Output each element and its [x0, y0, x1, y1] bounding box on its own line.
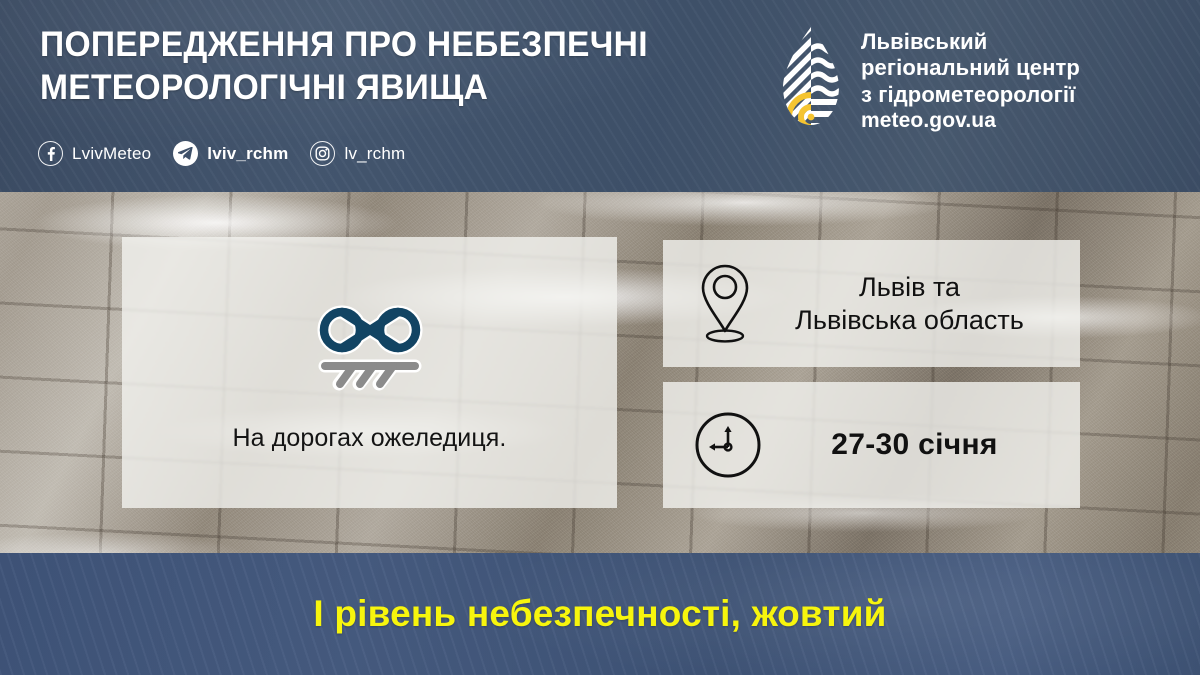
location-text: Львів та Львівська область: [753, 271, 1080, 337]
water-droplet-logo-icon: [775, 25, 847, 131]
social-link-facebook[interactable]: LvivMeteo: [38, 141, 151, 166]
telegram-handle: lviv_rchm: [207, 144, 288, 164]
date-range: 27-30 січня: [763, 427, 1066, 464]
facebook-handle: LvivMeteo: [72, 144, 151, 164]
clock-icon: [693, 410, 763, 480]
page-title: ПОПЕРЕДЖЕННЯ ПРО НЕБЕЗПЕЧНІ МЕТЕОРОЛОГІЧ…: [40, 24, 731, 109]
hazard-card: На дорогах ожеледиця.: [122, 237, 617, 508]
weather-warning-poster: ПОПЕРЕДЖЕННЯ ПРО НЕБЕЗПЕЧНІ МЕТЕОРОЛОГІЧ…: [0, 0, 1200, 675]
social-link-instagram[interactable]: lv_rchm: [310, 141, 405, 166]
danger-level-text: І рівень небезпечності, жовтий: [313, 593, 886, 635]
logo-text-line-3: з гідрометеорології: [861, 82, 1075, 107]
logo-website-url[interactable]: meteo.gov.ua: [861, 109, 996, 132]
location-card: Львів та Львівська область: [663, 240, 1080, 367]
social-links: LvivMeteo lviv_rchm: [38, 141, 427, 166]
date-text: 27-30 січня: [763, 427, 1080, 464]
black-ice-road-icon: [295, 286, 445, 402]
location-line-1: Львів та: [753, 271, 1066, 304]
map-pin-icon: [697, 261, 753, 347]
organization-logo: Львівський регіональний центр з гідромет…: [775, 25, 1200, 134]
footer-banner: І рівень небезпечності, жовтий: [0, 553, 1200, 675]
social-link-telegram[interactable]: lviv_rchm: [173, 141, 288, 166]
header-band: ПОПЕРЕДЖЕННЯ ПРО НЕБЕЗПЕЧНІ МЕТЕОРОЛОГІЧ…: [0, 0, 1200, 192]
page-title-line-1: ПОПЕРЕДЖЕННЯ ПРО НЕБЕЗПЕЧНІ: [40, 24, 731, 67]
logo-text-line-1: Львівський: [861, 29, 987, 54]
location-line-2: Львівська область: [753, 304, 1066, 337]
date-card: 27-30 січня: [663, 382, 1080, 508]
hazard-description: На дорогах ожеледиця.: [233, 424, 507, 453]
instagram-icon: [310, 141, 335, 166]
logo-text-line-2: регіональний центр: [861, 55, 1080, 80]
instagram-handle: lv_rchm: [344, 144, 405, 164]
facebook-icon: [38, 141, 63, 166]
organization-name: Львівський регіональний центр з гідромет…: [861, 25, 1200, 134]
page-title-line-2: МЕТЕОРОЛОГІЧНІ ЯВИЩА: [40, 67, 731, 110]
telegram-icon: [173, 141, 198, 166]
